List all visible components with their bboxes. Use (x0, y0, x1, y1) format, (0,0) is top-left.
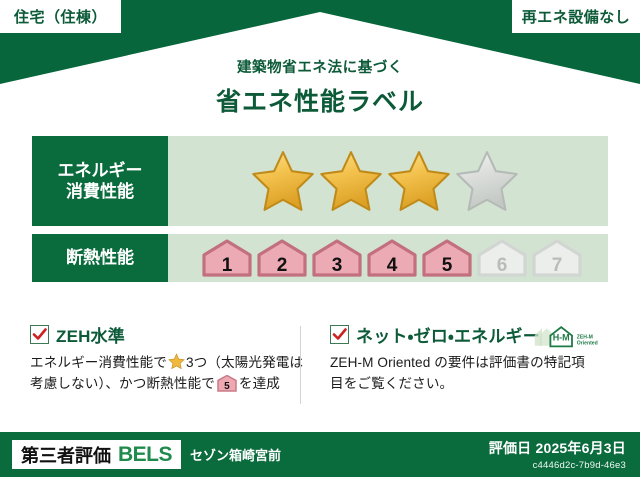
bels-logo-text: BELS (118, 443, 172, 467)
zeh-m-logo-sub1: ZEH-M (577, 335, 593, 341)
house-grade-value: 1 (201, 256, 253, 275)
house-grade-value: 4 (366, 256, 418, 275)
evaluation-meta: 評価日 2025年6月3日 c4446d2c-7b9d-46e3 (489, 438, 626, 471)
energy-performance-panel (168, 136, 608, 226)
house-grade-badge-active: 3 (311, 238, 363, 278)
house-grade-value: 6 (476, 256, 528, 275)
house-grade-badge-active: 2 (256, 238, 308, 278)
evaluation-date: 評価日 2025年6月3日 (489, 438, 626, 458)
energy-label-line1: エネルギー (58, 160, 143, 181)
house-grade-value: 5 (421, 256, 473, 275)
criteria-section: ZEH水準 エネルギー消費性能で3つ（太陽光発電は考慮しない）、かつ断熱性能で5… (30, 322, 610, 395)
evaluation-date-label: 評価日 (489, 440, 532, 456)
house-grade-badge-active: 4 (366, 238, 418, 278)
building-type-tag: 住宅（住棟） (0, 0, 121, 33)
renewable-equipment-tag: 再エネ設備なし (512, 0, 640, 33)
evaluation-date-value: 2025年6月3日 (535, 440, 626, 456)
house-grade-badge-inline: 5 (217, 375, 237, 392)
criterion-net-zero-energy: ネット・ゼロ・エネルギー H-M ZEH-M Oriented ZEH-M Or… (320, 322, 610, 395)
footer-bar: 第三者評価 BELS セゾン箱崎宮前 評価日 2025年6月3日 c4446d2… (0, 432, 640, 477)
evaluation-id: c4446d2c-7b9d-46e3 (489, 460, 626, 471)
house-grade-value: 2 (256, 256, 308, 275)
star-icon-filled (250, 149, 316, 213)
criterion-zeh-standard: ZEH水準 エネルギー消費性能で3つ（太陽光発電は考慮しない）、かつ断熱性能で5… (30, 322, 320, 395)
label-title-block: 建築物省エネ法に基づく 省エネ性能ラベル (0, 56, 640, 118)
energy-performance-row: エネルギー 消費性能 (32, 136, 608, 226)
zeh-m-oriented-logo: H-M ZEH-M Oriented (530, 320, 602, 350)
energy-label-line2: 消費性能 (66, 181, 134, 202)
star-icon-filled (386, 149, 452, 213)
house-grade-badge-active: 1 (201, 238, 253, 278)
zeh-standard-header: ZEH水準 (30, 322, 306, 346)
bels-badge: 第三者評価 BELS (12, 440, 181, 469)
net-zero-energy-description: ZEH-M Oriented の要件は評価書の特記項目をご覧ください。 (330, 352, 596, 395)
inline-badge-value: 5 (217, 382, 237, 392)
insulation-performance-label: 断熱性能 (32, 234, 168, 282)
star-icon-filled (318, 149, 384, 213)
third-party-evaluation-label: 第三者評価 (21, 442, 111, 468)
house-grade-value: 7 (531, 256, 583, 275)
star-rating (250, 149, 520, 213)
star-icon (168, 353, 185, 370)
zeh-desc-part3: を達成 (239, 376, 280, 391)
net-zero-energy-title: ネット・ゼロ・エネルギー (356, 322, 540, 347)
zeh-standard-description: エネルギー消費性能で3つ（太陽光発電は考慮しない）、かつ断熱性能で5を達成 (30, 352, 306, 395)
rating-rows: エネルギー 消費性能 断熱性能 1234567 (32, 136, 608, 290)
checkbox-checked-icon (330, 325, 349, 344)
checkbox-checked-icon (30, 325, 49, 344)
zeh-standard-title: ZEH水準 (56, 322, 125, 347)
zeh-m-logo-sub2: Oriented (577, 341, 598, 347)
insulation-performance-panel: 1234567 (168, 234, 608, 282)
house-grade-badge-inactive: 7 (531, 238, 583, 278)
criteria-divider (300, 326, 301, 404)
house-grade-value: 3 (311, 256, 363, 275)
house-grade-badge-inactive: 6 (476, 238, 528, 278)
page-title: 省エネ性能ラベル (0, 82, 640, 118)
zeh-m-logo-main: H-M (553, 332, 570, 342)
energy-performance-label: エネルギー 消費性能 (32, 136, 168, 226)
house-grade-badge-active: 5 (421, 238, 473, 278)
zeh-desc-part1: エネルギー消費性能で (30, 355, 167, 370)
insulation-grade-scale: 1234567 (201, 238, 583, 278)
insulation-performance-row: 断熱性能 1234567 (32, 234, 608, 282)
title-subtitle: 建築物省エネ法に基づく (0, 56, 640, 77)
star-icon-empty (454, 149, 520, 213)
insulation-label-line1: 断熱性能 (66, 247, 134, 268)
property-name: セゾン箱崎宮前 (190, 445, 281, 464)
energy-performance-label: 住宅（住棟） 再エネ設備なし 建築物省エネ法に基づく 省エネ性能ラベル エネルギ… (0, 0, 640, 477)
